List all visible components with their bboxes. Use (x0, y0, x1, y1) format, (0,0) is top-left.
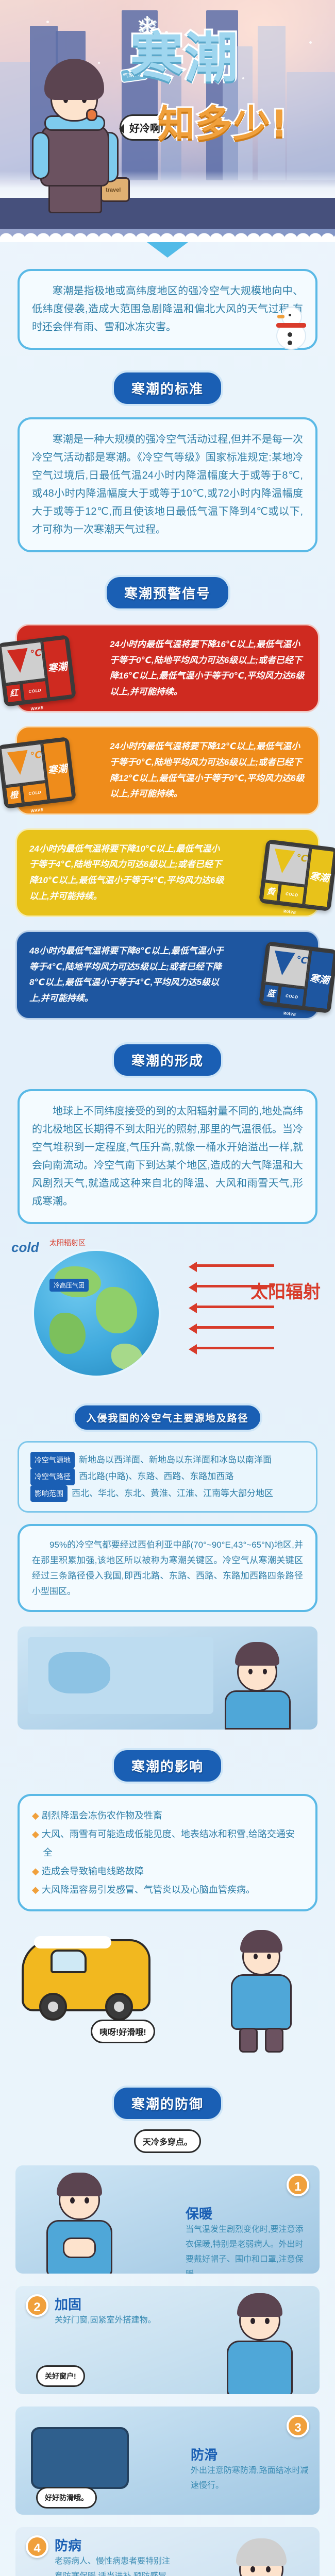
formation-text: 地球上不同纬度接受的到的太阳辐射量不同的,地处高纬的北极地区长期得不到太阳光的照… (32, 1103, 303, 1211)
car-illustration (22, 1939, 150, 2011)
prevention-photo-3: 3 防滑 外出注意防寒防滑,路面结冰时减速慢行。 好好防滑哦。 (15, 2406, 320, 2515)
person-warm (36, 2176, 124, 2268)
impact-item: 大风、雨雪有可能造成低能见度、地表结冰和积雪,给路交通安全 (32, 1825, 303, 1862)
speech-bubble-anti-slip: 好好防滑哦。 (36, 2487, 97, 2509)
prevention-desc-2: 关好门窗,固紧室外搭建物。 (55, 2313, 178, 2328)
speech-bubble-slip: 咦呀!好滑哦! (91, 2020, 155, 2043)
car-side (31, 2427, 129, 2489)
prevention-block-3: 3 防滑 外出注意防寒防滑,路面结冰时减速慢行。 好好防滑哦。 (15, 2406, 320, 2515)
warning-sign-red-icon: ℃ 寒潮 红 COLD WAVE (0, 635, 76, 707)
section-title-standard: 寒潮的标准 (112, 370, 223, 406)
landmass (96, 1287, 137, 1333)
coat (40, 125, 109, 187)
route-text: 新地岛以西洋面、新地岛以东洋面和冰岛以南洋面 (79, 1452, 272, 1468)
car-scene: 咦呀!好滑哦! (0, 1919, 335, 2073)
pedestrian-figure (222, 1933, 299, 2052)
earth-globe (32, 1249, 161, 1378)
prevention-number-2: 2 (26, 2294, 48, 2317)
sun-ray (197, 1306, 274, 1308)
warning-sign-orange-icon: ℃ 寒潮 橙 COLD WAVE (0, 737, 76, 809)
route-tag: 冷空气路径 (30, 1468, 75, 1485)
prevention-photo-4: 4 防病 老弱病人、慢性病患者要特别注意防寒保暖,适当进补,预防感冒和心脑血管疾… (15, 2527, 320, 2576)
sign-english: COLD WAVE (278, 884, 305, 905)
prevention-block-4: 4 防病 老弱病人、慢性病患者要特别注意防寒保暖,适当进补,预防感冒和心脑血管疾… (15, 2527, 320, 2576)
route-item: 影响范围 西北、华北、东北、黄淮、江淮、江南等大部分地区 (30, 1485, 305, 1502)
route-tag: 影响范围 (30, 1485, 68, 1502)
prevention-number-1: 1 (287, 2174, 309, 2196)
snowman-figure (272, 304, 310, 350)
prevention-photo-1: 1 保暖 当气温发生剧烈变化时,要注意添衣保暖,特别是老弱病人。外出时要戴好帽子… (15, 2165, 320, 2274)
hero-title-main: 寒潮 (130, 31, 239, 84)
sign-pictogram: ℃ (264, 945, 310, 988)
map-region (48, 1652, 110, 1693)
routes-card: 冷空气源地 新地岛以西洋面、新地岛以东洋面和冰岛以南洋面 冷空气路径 西北路(中… (18, 1441, 317, 1513)
speech-bubble-close-window: 关好窗户! (36, 2365, 85, 2387)
prevention-block-1: 1 保暖 当气温发生剧烈变化时,要注意添衣保暖,特别是老弱病人。外出时要戴好帽子… (15, 2165, 320, 2274)
degree-symbol: ℃ (295, 849, 309, 867)
forecaster-figure (212, 1637, 305, 1730)
sun-ray (197, 1264, 274, 1267)
prevention-title-1: 保暖 (186, 2204, 309, 2223)
warning-text-orange: 24小时内最低气温将要下降12℃以上,最低气温小于等于0℃,陆地平均风力可达6级… (110, 739, 306, 802)
car-window (51, 1950, 87, 1973)
elderly-person (214, 2539, 307, 2576)
warning-text-blue: 48小时内最低气温将要下降8℃以上,最低气温小于等于4℃,陆地平均风力可达5级以… (29, 943, 225, 1006)
sign-pictogram: ℃ (1, 641, 46, 684)
prevention-photo-2: 2 加固 关好门窗,固紧室外搭建物。 关好窗户! (15, 2286, 320, 2394)
sign-pictogram: ℃ (1, 743, 46, 786)
prevention-text-block-4: 防病 老弱病人、慢性病患者要特别注意防寒保暖,适当进补,预防感冒和心脑血管疾病发… (55, 2535, 173, 2576)
degree-symbol: ℃ (29, 747, 43, 765)
degree-symbol: ℃ (295, 952, 309, 970)
standard-card: 寒潮是一种大规模的强冷空气活动过程,但并不是每一次冷空气活动都是寒潮。《冷空气等… (18, 417, 317, 552)
sun-radiation-label: 太阳辐射 (250, 1283, 321, 1302)
sign-level: 蓝 (262, 984, 280, 1004)
sign-english: COLD WAVE (278, 986, 305, 1007)
arrow-down-icon (147, 242, 188, 258)
warning-text-red: 24小时内最低气温将要下降16℃以上,最低气温小于等于0℃,陆地平均风力可达6级… (110, 637, 306, 700)
landmass (111, 1344, 142, 1369)
warning-text-yellow: 24小时内最低气温将要下降10℃以上,最低气温小于等于4℃,陆地平均风力可达6级… (29, 841, 225, 904)
route-text: 西北、华北、东北、黄淮、江淮、江南等大部分地区 (72, 1485, 273, 1502)
building (0, 62, 31, 180)
prevention-number-3: 3 (287, 2415, 309, 2437)
hero-title-sub: 知多少! (158, 105, 288, 142)
formation-card: 地球上不同纬度接受的到的太阳辐射量不同的,地处高纬的北极地区长期得不到太阳光的照… (18, 1089, 317, 1224)
section-title-prevention: 寒潮的防御 (112, 2086, 223, 2121)
cold-label-en: cold (11, 1240, 39, 1256)
landmass (49, 1313, 86, 1354)
infographic-page: travel 好冷啊! ❄ 气象科普 寒潮 知多少! 寒潮是指极地或高纬度地区的… (0, 0, 335, 2576)
sign-pictogram: ℃ (264, 842, 310, 885)
impact-item: 剧烈降温会冻伤农作物及牲畜 (32, 1806, 303, 1825)
sun-label-zh: 太阳辐射区 (49, 1238, 86, 1248)
sun-ray (197, 1326, 274, 1329)
impact-item: 造成会导致输电线路故障 (32, 1862, 303, 1880)
snow-on-car (34, 1936, 111, 1948)
hero-title-group: ❄ 气象科普 寒潮 知多少! (120, 19, 326, 173)
snow-particle (46, 21, 49, 23)
arm-left (32, 132, 49, 179)
speech-bubble-dress-warm: 天冷多穿点。 (134, 2129, 201, 2153)
weather-map-scene (0, 1619, 335, 1738)
prevention-intro-bubble: 天冷多穿点。 (0, 2129, 335, 2153)
sign-level: 橙 (5, 785, 23, 805)
hair (44, 59, 104, 100)
route-item: 冷空气源地 新地岛以西洋面、新地岛以东洋面和冰岛以南洋面 (30, 1452, 305, 1469)
sign-english: COLD WAVE (22, 680, 48, 702)
intro-card: 寒潮是指极地或高纬度地区的强冷空气大规模地向中、低纬度侵袭,造成大范围急剧降温和… (18, 269, 317, 350)
section-title-routes: 入侵我国的冷空气主要源地及路径 (73, 1403, 262, 1432)
person-window (216, 2296, 304, 2389)
car-wheel (39, 1993, 67, 2021)
warning-sign-blue-icon: ℃ 寒潮 蓝 COLD WAVE (259, 941, 335, 1013)
prevention-block-2: 2 加固 关好门窗,固紧室外搭建物。 关好窗户! (15, 2286, 320, 2394)
prevention-text-block-1: 保暖 当气温发生剧烈变化时,要注意添衣保暖,特别是老弱病人。外出时要戴好帽子、围… (186, 2204, 309, 2274)
sign-english: COLD WAVE (22, 782, 48, 804)
routes-note-card: 95%的冷空气都要经过西伯利亚中部(70°~90°E,43°~65°N)地区,并… (18, 1524, 317, 1612)
prevention-number-4: 4 (26, 2535, 48, 2558)
snow-scallop-divider (0, 227, 335, 242)
route-item: 冷空气路径 西北路(中路)、东路、西路、东路加西路 (30, 1468, 305, 1485)
warning-sign-yellow-icon: ℃ 寒潮 黄 COLD WAVE (259, 839, 335, 911)
prevention-desc-1: 当气温发生剧烈变化时,要注意添衣保暖,特别是老弱病人。外出时要戴好帽子、围巾和口… (186, 2223, 309, 2274)
prevention-desc-4: 老弱病人、慢性病患者要特别注意防寒保暖,适当进补,预防感冒和心脑血管疾病发作。 (55, 2554, 173, 2576)
standard-text: 寒潮是一种大规模的强冷空气活动过程,但并不是每一次冷空气活动都是寒潮。《冷空气等… (32, 431, 303, 539)
prevention-title-2: 加固 (55, 2294, 178, 2313)
section-title-impact: 寒潮的影响 (112, 1748, 223, 1784)
section-title-formation: 寒潮的形成 (112, 1042, 223, 1078)
suitcase-label: travel (106, 187, 121, 193)
impact-list: 剧烈降温会冻伤农作物及牲畜 大风、雨雪有可能造成低能见度、地表结冰和积雪,给路交… (18, 1794, 317, 1911)
mouth (86, 109, 97, 121)
cold-airmass-label: 冷高压气团 (49, 1279, 89, 1292)
degree-symbol: ℃ (29, 645, 43, 663)
sun-ray (197, 1347, 274, 1349)
warning-card-red: ℃ 寒潮 红 COLD WAVE 24小时内最低气温将要下降16℃以上,最低气温… (15, 624, 320, 713)
routes-note: 95%的冷空气都要经过西伯利亚中部(70°~90°E,43°~65°N)地区,并… (32, 1537, 303, 1599)
warning-card-blue: ℃ 寒潮 蓝 COLD WAVE 48小时内最低气温将要下降8℃以上,最低气温小… (15, 930, 320, 1019)
hero-banner: travel 好冷啊! ❄ 气象科普 寒潮 知多少! (0, 0, 335, 242)
prevention-text-block-2: 加固 关好门窗,固紧室外搭建物。 (55, 2294, 178, 2328)
prevention-desc-3: 外出注意防寒防滑,路面结冰时减速慢行。 (191, 2464, 309, 2494)
globe-diagram: cold 太阳辐射区 冷高压气团 太阳辐射 (0, 1233, 335, 1403)
warning-card-yellow: ℃ 寒潮 黄 COLD WAVE 24小时内最低气温将要下降10℃以上,最低气温… (15, 828, 320, 917)
map-photo (18, 1626, 317, 1730)
route-text: 西北路(中路)、东路、西路、东路加西路 (79, 1468, 233, 1485)
impact-item: 大风降温容易引发感冒、气管炎以及心脑血管疾病。 (32, 1880, 303, 1899)
sign-level: 黄 (262, 882, 280, 902)
boy-character: travel (30, 55, 128, 225)
intro-text: 寒潮是指极地或高纬度地区的强冷空气大规模地向中、低纬度侵袭,造成大范围急剧降温和… (32, 282, 303, 336)
section-title-warning: 寒潮预警信号 (105, 575, 230, 611)
warning-card-orange: ℃ 寒潮 橙 COLD WAVE 24小时内最低气温将要下降12℃以上,最低气温… (15, 726, 320, 815)
sign-level: 红 (5, 683, 23, 703)
route-tag: 冷空气源地 (30, 1452, 75, 1469)
prevention-text-block-3: 防滑 外出注意防寒防滑,路面结冰时减速慢行。 (191, 2445, 309, 2494)
prevention-title-3: 防滑 (191, 2445, 309, 2464)
car-wheel (105, 1993, 133, 2021)
prevention-title-4: 防病 (55, 2535, 173, 2554)
